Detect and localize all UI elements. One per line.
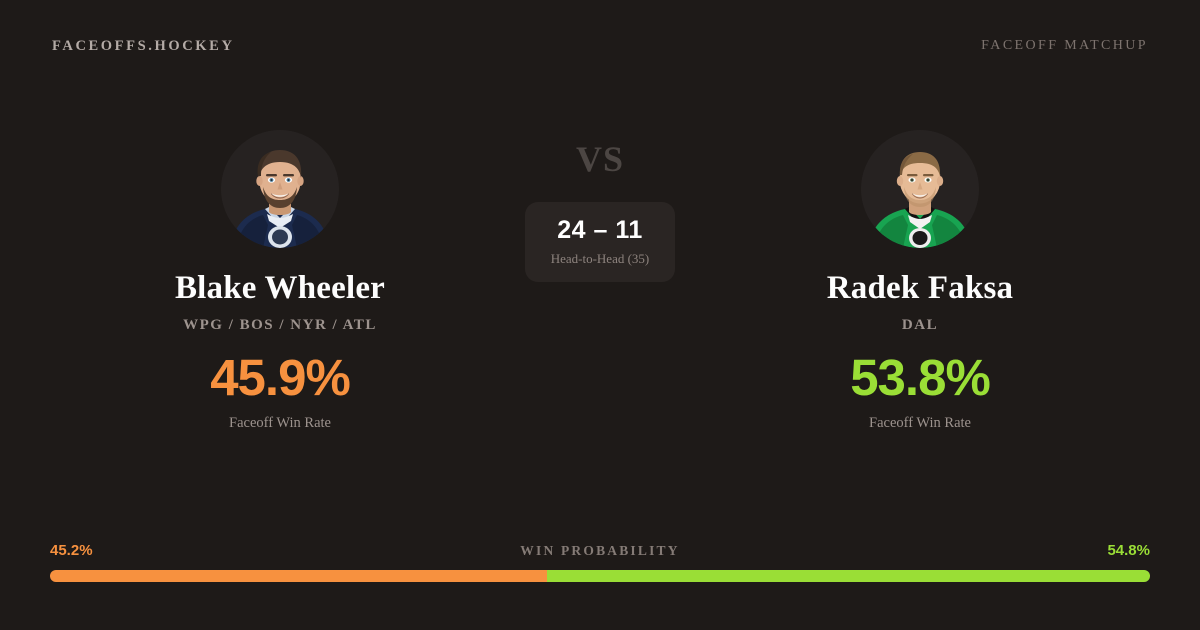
win-probability-section: 45.2% WIN PROBABILITY 54.8% — [50, 542, 1150, 582]
site-brand-logo[interactable]: FACEOFFS.HOCKEY — [52, 38, 235, 55]
vs-label: VS — [576, 138, 624, 180]
page-header: FACEOFFS.HOCKEY FACEOFF MATCHUP — [0, 0, 1200, 92]
left-player-faceoff-label: Faceoff Win Rate — [229, 415, 331, 432]
win-probability-bar[interactable] — [50, 570, 1150, 582]
right-player-faceoff-label: Faceoff Win Rate — [869, 415, 971, 432]
head-to-head-score: 24 – 11 — [557, 216, 643, 245]
left-player-faceoff-pct: 45.9% — [210, 352, 350, 403]
win-probability-bar-right-segment — [547, 570, 1150, 582]
win-probability-header: 45.2% WIN PROBABILITY 54.8% — [50, 542, 1150, 559]
versus-section: VS 24 – 11 Head-to-Head (35) — [500, 130, 700, 282]
left-player-name: Blake Wheeler — [175, 270, 385, 306]
header-subtitle: FACEOFF MATCHUP — [981, 38, 1148, 54]
win-probability-right-value: 54.8% — [1107, 542, 1150, 559]
win-probability-bar-left-segment — [50, 570, 547, 582]
right-player-card[interactable]: Radek Faksa DAL 53.8% Faceoff Win Rate — [700, 130, 1140, 432]
matchup-section: Blake Wheeler WPG / BOS / NYR / ATL 45.9… — [0, 130, 1200, 470]
left-player-card[interactable]: Blake Wheeler WPG / BOS / NYR / ATL 45.9… — [60, 130, 500, 432]
head-to-head-label: Head-to-Head (35) — [551, 251, 650, 267]
head-to-head-box[interactable]: 24 – 11 Head-to-Head (35) — [525, 202, 676, 282]
left-player-avatar — [221, 130, 339, 248]
win-probability-left-value: 45.2% — [50, 542, 93, 559]
win-probability-title: WIN PROBABILITY — [520, 543, 679, 559]
right-player-teams: DAL — [902, 317, 938, 334]
right-player-name: Radek Faksa — [827, 270, 1014, 306]
left-player-teams: WPG / BOS / NYR / ATL — [183, 317, 377, 334]
right-player-avatar — [861, 130, 979, 248]
right-player-faceoff-pct: 53.8% — [850, 352, 990, 403]
